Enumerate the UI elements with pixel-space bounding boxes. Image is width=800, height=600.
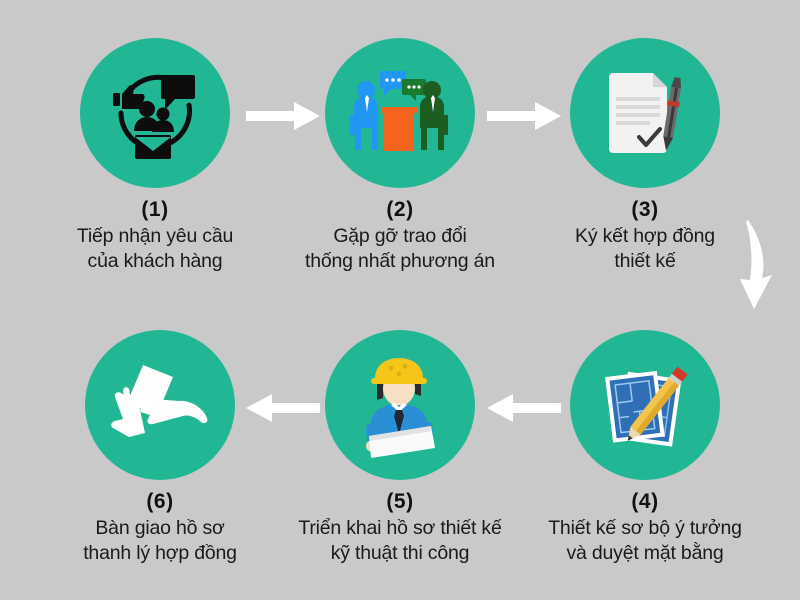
- step-5-icon-circle: [325, 330, 475, 480]
- step-2-label: Gặp gỡ trao đổi thống nhất phương án: [280, 224, 520, 274]
- step-1-label: Tiếp nhận yêu cầu của khách hàng: [35, 224, 275, 274]
- step-6-icon-circle: [85, 330, 235, 480]
- step-6: (6) Bàn giao hồ sơ thanh lý hợp đồng: [40, 330, 280, 566]
- step-5-number: (5): [280, 490, 520, 513]
- step-4: (4) Thiết kế sơ bộ ý tưởng và duyệt mặt …: [525, 330, 765, 566]
- step-2-icon-circle: [325, 38, 475, 188]
- step-6-number: (6): [40, 490, 280, 513]
- process-flow-infographic: (1) Tiếp nhận yêu cầu của khách hàng: [0, 0, 800, 600]
- arrow-step3-to-step4-curved: [726, 216, 782, 317]
- engineer-blueprint-icon: [347, 352, 453, 458]
- step-1-number: (1): [35, 198, 275, 221]
- arrow-step4-to-step5: [487, 392, 561, 429]
- handover-documents-icon: [105, 355, 215, 455]
- arrow-step2-to-step3: [487, 100, 561, 137]
- blueprint-pencil-icon: [593, 353, 697, 457]
- step-5: (5) Triển khai hồ sơ thiết kế kỹ thuật t…: [280, 330, 520, 566]
- step-5-label: Triển khai hồ sơ thiết kế kỹ thuật thi c…: [280, 516, 520, 566]
- meeting-discussion-icon: [344, 63, 456, 163]
- customer-feedback-cycle-icon: [103, 61, 207, 165]
- step-1: (1) Tiếp nhận yêu cầu của khách hàng: [35, 38, 275, 274]
- contract-signing-icon: [595, 65, 695, 161]
- step-2: (2) Gặp gỡ trao đổi thống nhất phương án: [280, 38, 520, 274]
- step-2-number: (2): [280, 198, 520, 221]
- arrow-step5-to-step6: [246, 392, 320, 429]
- step-3-icon-circle: [570, 38, 720, 188]
- step-4-icon-circle: [570, 330, 720, 480]
- step-4-number: (4): [525, 490, 765, 513]
- step-4-label: Thiết kế sơ bộ ý tưởng và duyệt mặt bằng: [525, 516, 765, 566]
- arrow-step1-to-step2: [246, 100, 320, 137]
- step-1-icon-circle: [80, 38, 230, 188]
- step-6-label: Bàn giao hồ sơ thanh lý hợp đồng: [40, 516, 280, 566]
